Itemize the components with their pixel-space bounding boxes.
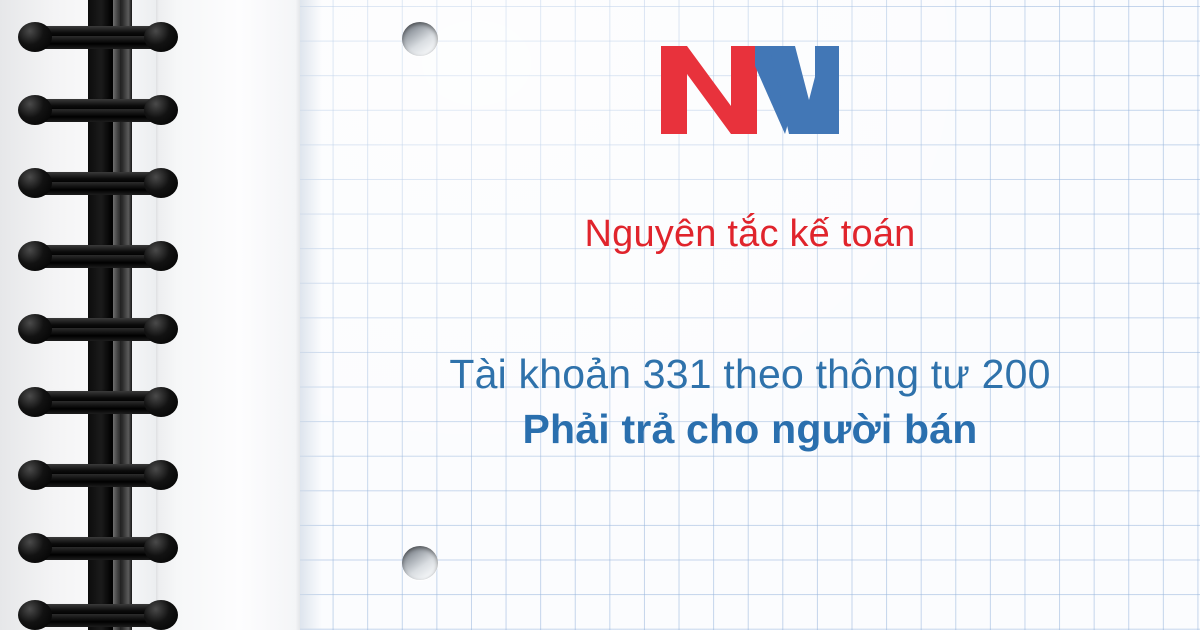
headline-line-1: Tài khoản 331 theo thông tư 200: [300, 348, 1200, 400]
logo-icon: [659, 44, 841, 136]
binding-ring: [18, 168, 178, 198]
spiral-binding: [0, 0, 156, 630]
binding-ring: [18, 241, 178, 271]
binding-ring: [18, 460, 178, 490]
page-subtitle: Nguyên tắc kế toán: [300, 213, 1200, 257]
binding-ring: [18, 22, 178, 52]
headline-line-2: Phải trả cho người bán: [300, 400, 1200, 459]
notebook-page: Nguyên tắc kế toán Tài khoản 331 theo th…: [0, 0, 1200, 630]
binding-ring: [18, 95, 178, 125]
binding-ring: [18, 533, 178, 563]
page-content: Nguyên tắc kế toán Tài khoản 331 theo th…: [300, 0, 1200, 630]
binding-ring: [18, 314, 178, 344]
binding-ring: [18, 600, 178, 630]
binding-ring: [18, 387, 178, 417]
page-headline: Tài khoản 331 theo thông tư 200 Phải trả…: [300, 348, 1200, 460]
brand-logo: [300, 44, 1200, 136]
